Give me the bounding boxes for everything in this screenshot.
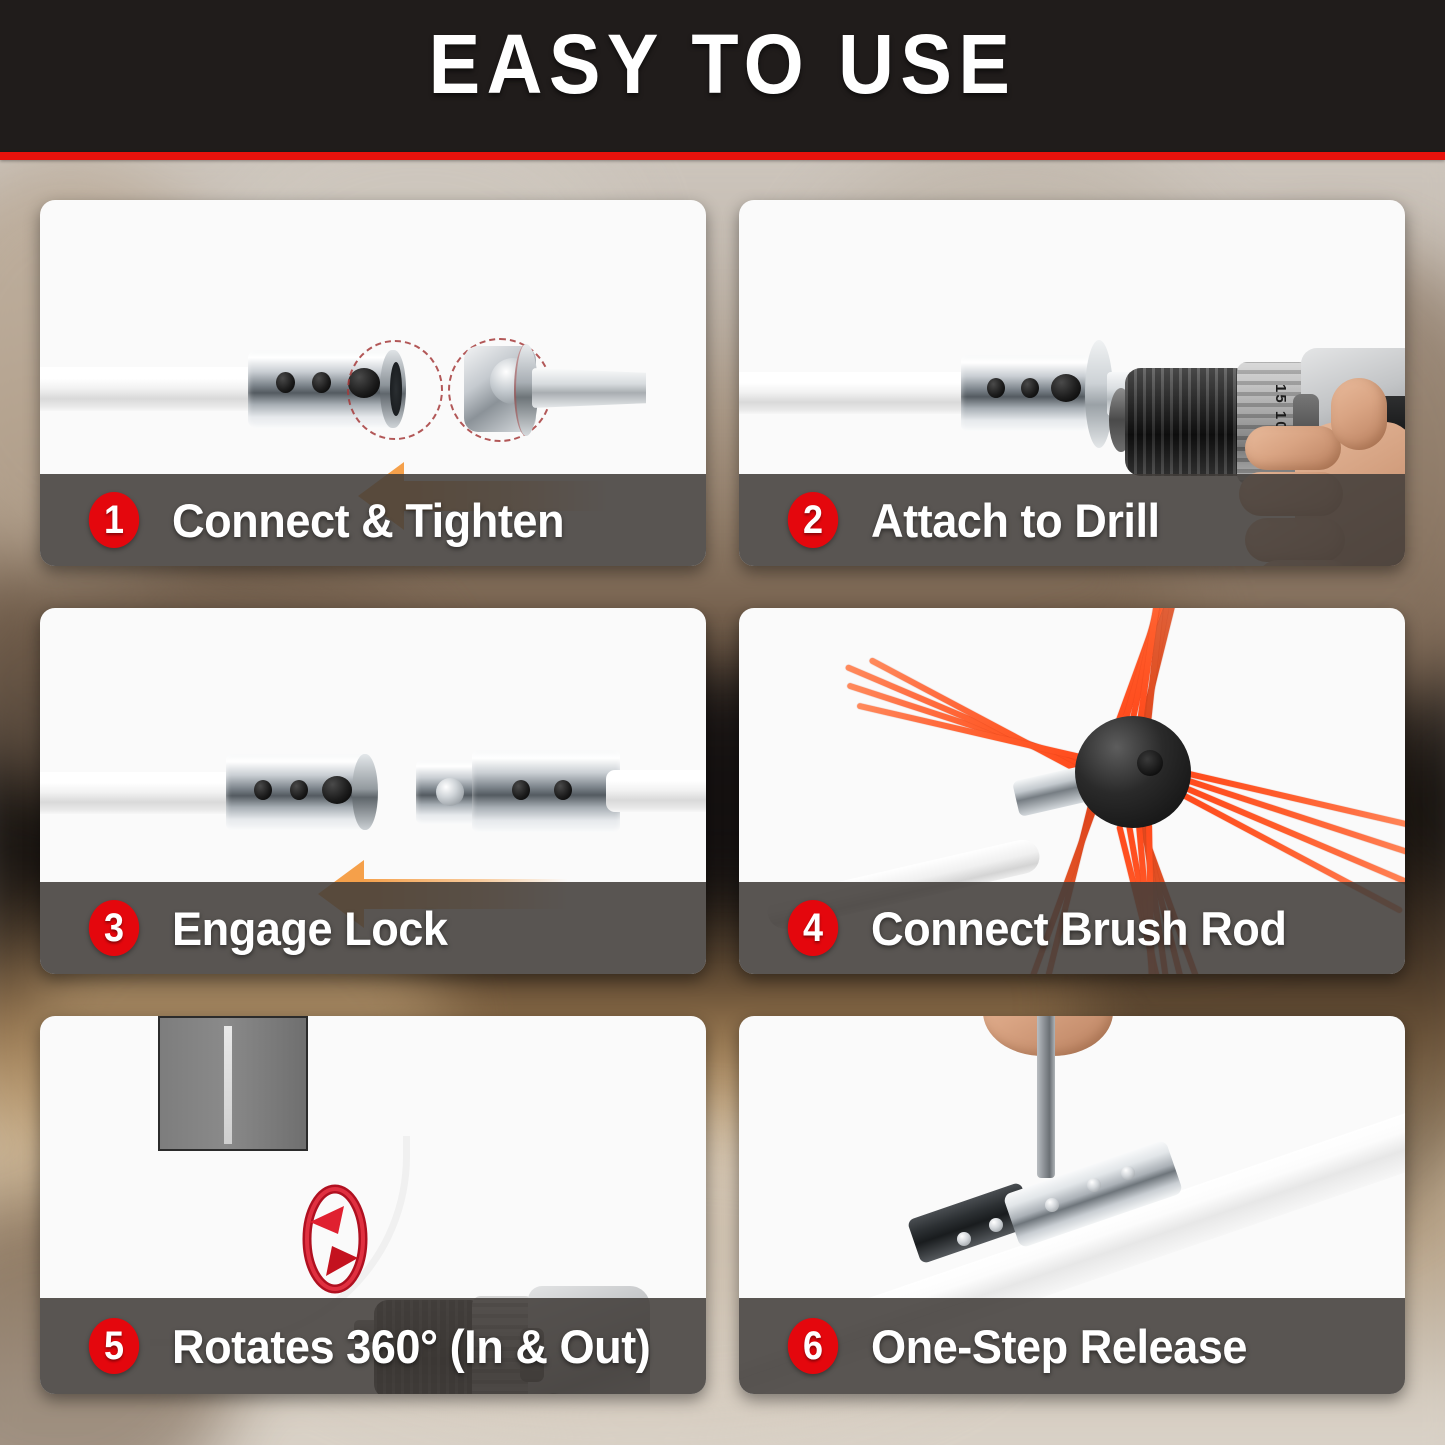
coupler-lock-button (322, 776, 352, 804)
step-panel-6[interactable]: 6 One-Step Release (739, 1016, 1405, 1394)
coupler-rivet (957, 1232, 971, 1246)
coupler-rivet (1121, 1166, 1135, 1180)
step-2-caption: 2 Attach to Drill (739, 474, 1405, 566)
step-number-badge: 6 (788, 1318, 838, 1374)
index-finger (1245, 426, 1341, 470)
step-label: Attach to Drill (871, 497, 1160, 544)
coupler-pin-hole (312, 372, 331, 393)
step-number-badge: 2 (788, 492, 838, 548)
step-label: Rotates 360° (In & Out) (172, 1323, 650, 1370)
rotation-arrow-icon (298, 1184, 372, 1294)
coupler-pin-hole (512, 780, 530, 800)
coupler-pin-hole (554, 780, 572, 800)
coupler-set-screw (436, 778, 464, 806)
fiberglass-rod-right (606, 770, 706, 812)
steps-grid: 1 Connect & Tighten 15 10 5 1 (40, 200, 1405, 1396)
hex-shank (532, 368, 646, 408)
step-panel-1[interactable]: 1 Connect & Tighten (40, 200, 706, 566)
release-pin-tool (1037, 1016, 1055, 1178)
step-label: Connect Brush Rod (871, 905, 1286, 952)
fiberglass-rod (739, 372, 987, 414)
coupler-end-cap (352, 754, 378, 830)
fiberglass-rod-left (40, 772, 246, 814)
step-number-badge: 1 (89, 492, 139, 548)
coupler-rivet (989, 1218, 1003, 1232)
step-label: One-Step Release (871, 1323, 1247, 1370)
step-5-caption: 5 Rotates 360° (In & Out) (40, 1298, 706, 1394)
step-3-caption: 3 Engage Lock (40, 882, 706, 974)
step-label: Connect & Tighten (172, 497, 564, 544)
step-6-caption: 6 One-Step Release (739, 1298, 1405, 1394)
step-number-badge: 5 (89, 1318, 139, 1374)
coupler-lock-button (1051, 374, 1081, 402)
step-4-caption: 4 Connect Brush Rod (739, 882, 1405, 974)
flue-slot (224, 1026, 232, 1144)
step-panel-3[interactable]: 3 Engage Lock (40, 608, 706, 974)
header-bar: EASY TO USE (0, 0, 1445, 152)
coupler-pin-hole (254, 780, 272, 800)
step-label: Engage Lock (172, 905, 448, 952)
coupler-rivet (1087, 1178, 1101, 1192)
chrome-coupler-male (472, 750, 620, 832)
coupler-pin-hole (290, 780, 308, 800)
drill-chuck (1125, 368, 1243, 476)
step-number-badge: 3 (89, 900, 139, 956)
step-1-caption: 1 Connect & Tighten (40, 474, 706, 566)
header-accent-rule (0, 152, 1445, 160)
coupler-release-pin-hole (1045, 1198, 1059, 1212)
highlight-ring-icon (347, 340, 443, 440)
step-panel-2[interactable]: 15 10 5 1 2 Attach to Drill (739, 200, 1405, 566)
coupler-pin-hole (987, 378, 1005, 398)
thumb (1331, 378, 1387, 450)
brush-hub (1075, 716, 1191, 828)
brush-hub-hole (1137, 750, 1163, 776)
step-number-badge: 4 (788, 900, 838, 956)
coupler-pin-hole (1021, 378, 1039, 398)
page-title: EASY TO USE (58, 22, 1387, 106)
flue-opening (158, 1016, 308, 1151)
step-panel-5[interactable]: 5 Rotates 360° (In & Out) (40, 1016, 706, 1394)
coupler-pin-hole (276, 372, 295, 393)
step-panel-4[interactable]: 4 Connect Brush Rod (739, 608, 1405, 974)
